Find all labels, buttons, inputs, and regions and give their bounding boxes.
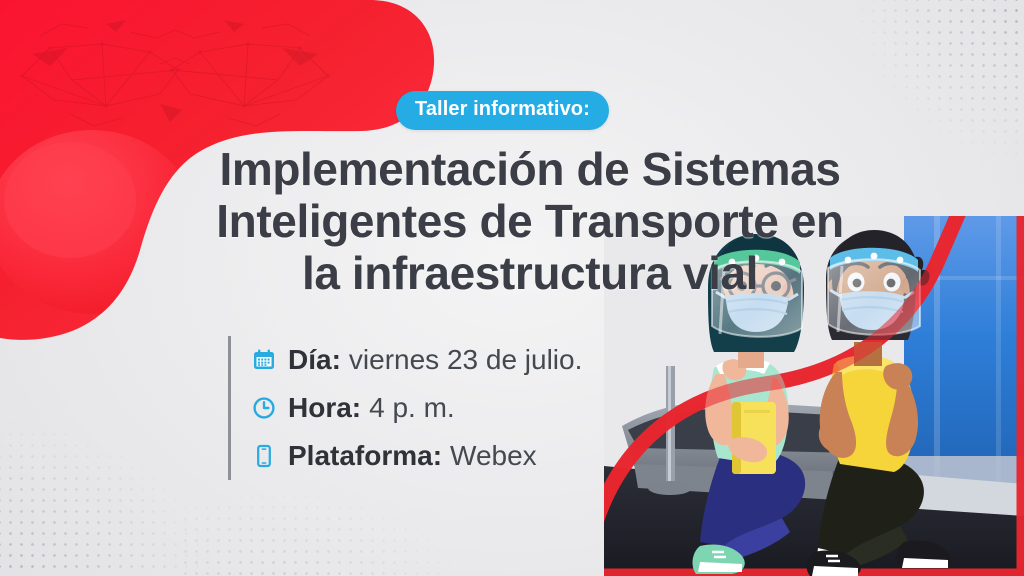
event-details-list: Día: viernes 23 de julio. Hora: 4 p. m. bbox=[228, 336, 582, 480]
detail-value-platform: Webex bbox=[450, 440, 537, 472]
detail-value-day: viernes 23 de julio. bbox=[349, 344, 582, 376]
title-line-3: la infraestructura vial bbox=[150, 247, 910, 299]
detail-label-time: Hora: bbox=[288, 392, 361, 424]
detail-row-platform: Plataforma: Webex bbox=[251, 432, 582, 480]
detail-row-day: Día: viernes 23 de julio. bbox=[251, 336, 582, 384]
detail-value-time: 4 p. m. bbox=[369, 392, 455, 424]
title-line-1: Implementación de Sistemas bbox=[150, 143, 910, 195]
detail-label-day: Día: bbox=[288, 344, 341, 376]
calendar-icon bbox=[251, 347, 277, 373]
wireframe-mesh-icon bbox=[10, 18, 340, 143]
clock-icon bbox=[251, 395, 277, 421]
detail-label-platform: Plataforma: bbox=[288, 440, 442, 472]
mobile-phone-icon bbox=[251, 443, 277, 469]
workshop-badge: Taller informativo: bbox=[396, 91, 609, 130]
title-line-2: Inteligentes de Transporte en bbox=[150, 195, 910, 247]
detail-row-time: Hora: 4 p. m. bbox=[251, 384, 582, 432]
page-title: Implementación de Sistemas Inteligentes … bbox=[150, 143, 910, 299]
poster-canvas: Taller informativo: Implementación de Si… bbox=[0, 0, 1024, 576]
